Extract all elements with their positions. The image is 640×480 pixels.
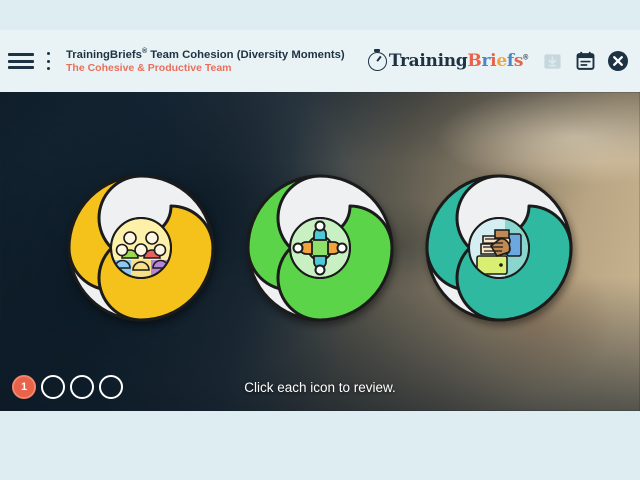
- hamburger-line: [8, 53, 34, 56]
- stopwatch-icon: [368, 52, 387, 71]
- hamburger-line: [8, 66, 34, 69]
- brand-registered-mark: ®: [523, 54, 528, 61]
- step-dot-label: 1: [21, 381, 27, 393]
- swirl-icon-handshake[interactable]: [423, 172, 575, 324]
- step-dot-1[interactable]: 1: [12, 375, 36, 399]
- topbar-actions: TrainingBriefs®: [368, 49, 630, 73]
- step-dot-2[interactable]: [41, 375, 65, 399]
- step-indicator: 1: [12, 375, 123, 399]
- page-title: TrainingBriefs® Team Cohesion (Diversity…: [66, 48, 368, 62]
- trainingbriefs-logo: TrainingBriefs®: [368, 51, 528, 71]
- close-icon[interactable]: [606, 49, 630, 73]
- kebab-dot: [47, 60, 50, 63]
- notes-icon[interactable]: [573, 49, 597, 73]
- kebab-dot: [47, 52, 50, 55]
- step-dot-4[interactable]: [99, 375, 123, 399]
- player-topbar: TrainingBriefs® Team Cohesion (Diversity…: [0, 30, 640, 92]
- slide-stage: 1 Click each icon to review.: [0, 92, 640, 411]
- brand-word-training: Training: [389, 51, 468, 71]
- swirl-icon-team-diversity[interactable]: [65, 172, 217, 324]
- title-block: TrainingBriefs® Team Cohesion (Diversity…: [66, 48, 368, 75]
- page-subtitle: The Cohesive & Productive Team: [66, 62, 368, 74]
- player-bottombar: 1 Click each icon to review.: [0, 363, 640, 411]
- step-dot-3[interactable]: [70, 375, 94, 399]
- interactive-icon-row: [0, 172, 640, 324]
- kebab-dot: [47, 67, 50, 70]
- hamburger-menu-icon[interactable]: [8, 51, 34, 71]
- hamburger-line: [8, 60, 34, 63]
- course-player: TrainingBriefs® Team Cohesion (Diversity…: [0, 30, 640, 411]
- page-title-rest: Team Cohesion (Diversity Moments): [147, 48, 345, 60]
- page-title-brand: TrainingBriefs: [66, 48, 142, 60]
- brand-wordmark: TrainingBriefs®: [389, 51, 528, 71]
- download-icon[interactable]: [540, 49, 564, 73]
- swirl-icon-collaboration[interactable]: [244, 172, 396, 324]
- more-options-icon[interactable]: [40, 50, 56, 72]
